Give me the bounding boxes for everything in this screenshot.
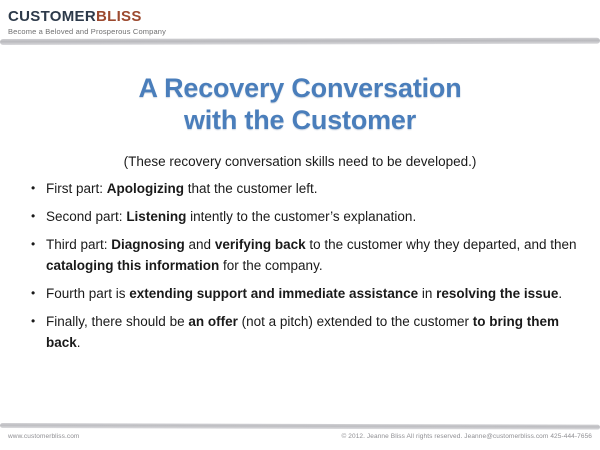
list-item-text: Third part: Diagnosing and verifying bac… bbox=[46, 234, 580, 276]
list-item-text: Fourth part is extending support and imm… bbox=[46, 283, 580, 304]
page-title-line-2: with the Customer bbox=[0, 104, 600, 136]
list-item-text: Finally, there should be an offer (not a… bbox=[46, 311, 580, 353]
logo-text-customer: CUSTOMER bbox=[8, 8, 96, 25]
list-item: • Fourth part is extending support and i… bbox=[24, 283, 580, 304]
list-item: • Second part: Listening intently to the… bbox=[24, 206, 580, 227]
bullet-marker-icon: • bbox=[24, 234, 46, 255]
list-item-text: Second part: Listening intently to the c… bbox=[46, 206, 580, 227]
list-item-text: First part: Apologizing that the custome… bbox=[46, 178, 580, 199]
page-title-line-1: A Recovery Conversation bbox=[0, 72, 600, 104]
list-item: • First part: Apologizing that the custo… bbox=[24, 178, 580, 199]
brand-logo: CUSTOMERBLISS Become a Beloved and Prosp… bbox=[8, 9, 166, 37]
footer-copyright: © 2012. Jeanne Bliss All rights reserved… bbox=[341, 433, 592, 440]
slide-canvas: { "brand": { "logo_part1": "CUSTOMER", "… bbox=[0, 0, 600, 450]
bullet-list: • First part: Apologizing that the custo… bbox=[24, 178, 580, 360]
subtitle-note: (These recovery conversation skills need… bbox=[0, 152, 600, 171]
brand-tagline: Become a Beloved and Prosperous Company bbox=[8, 27, 166, 37]
logo-text-bliss: BLISS bbox=[96, 8, 142, 25]
bullet-marker-icon: • bbox=[24, 178, 46, 199]
list-item: • Finally, there should be an offer (not… bbox=[24, 311, 580, 353]
bullet-marker-icon: • bbox=[24, 206, 46, 227]
bullet-marker-icon: • bbox=[24, 283, 46, 304]
page-title: A Recovery Conversation with the Custome… bbox=[0, 72, 600, 136]
logo-wordmark: CUSTOMERBLISS bbox=[8, 9, 166, 25]
header-divider bbox=[0, 38, 600, 45]
bullet-marker-icon: • bbox=[24, 311, 46, 332]
footer-website[interactable]: www.customerbliss.com bbox=[8, 433, 79, 440]
list-item: • Third part: Diagnosing and verifying b… bbox=[24, 234, 580, 276]
footer-divider bbox=[0, 423, 600, 430]
